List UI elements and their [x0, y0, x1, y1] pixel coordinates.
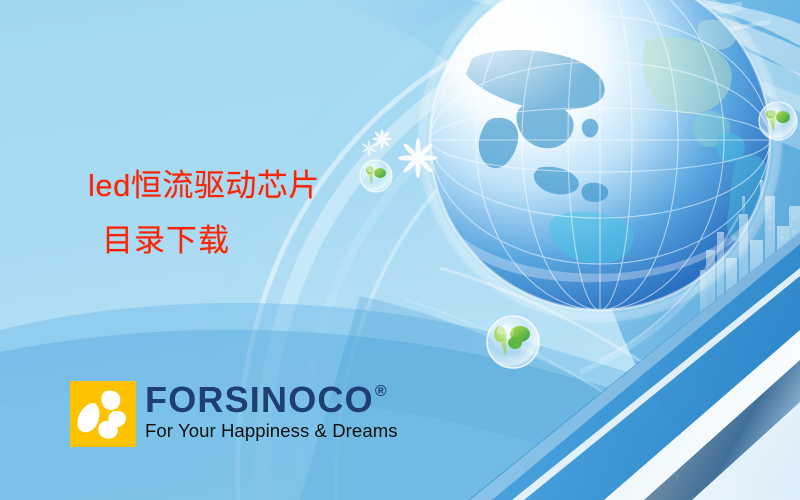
bubble-green-sprout-edge [759, 102, 797, 140]
brand-name: FORSINOCO [145, 383, 374, 417]
slide-canvas: led恒流驱动芯片 目录下载 FORSINOCO ® [0, 0, 800, 500]
headline-line-1: led恒流驱动芯片 [88, 166, 320, 206]
registered-trademark-icon: ® [375, 384, 387, 400]
bubble-green-sprout-small [360, 160, 392, 192]
bubble-green-sprout-large [487, 316, 539, 368]
headline-text: led恒流驱动芯片 目录下载 [88, 166, 320, 260]
four-petal-flower-glyph [70, 381, 136, 447]
forsinoco-flower-icon [70, 381, 136, 447]
logo-wordmark: FORSINOCO ® For Your Happiness & Dreams [145, 381, 398, 441]
company-logo: FORSINOCO ® For Your Happiness & Dreams [70, 381, 398, 447]
headline-line-2: 目录下载 [102, 221, 320, 261]
brand-tagline: For Your Happiness & Dreams [145, 421, 398, 440]
